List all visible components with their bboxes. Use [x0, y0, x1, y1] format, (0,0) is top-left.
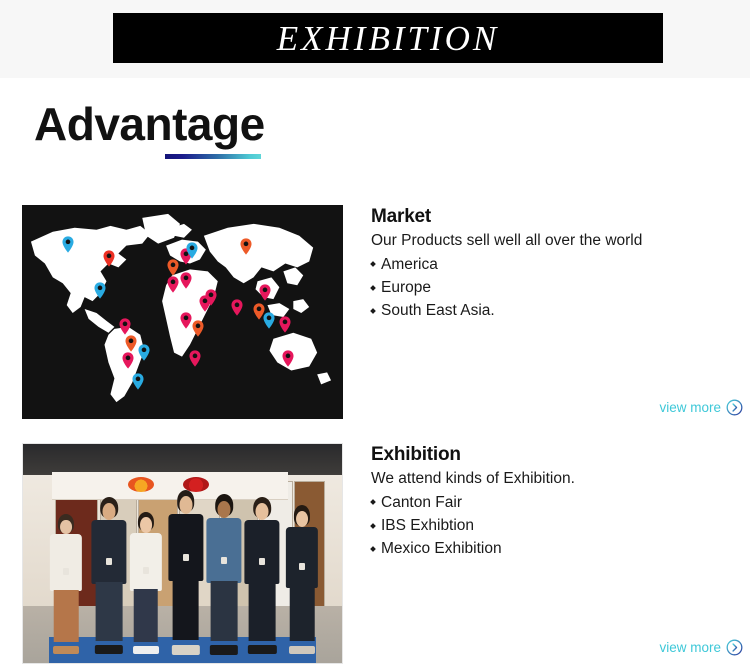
- person-shoes: [95, 645, 123, 654]
- market-lead: Our Products sell well all over the worl…: [371, 231, 743, 252]
- view-more-label: view more: [659, 401, 721, 415]
- list-item-label: South East Asia.: [381, 302, 495, 319]
- map-pin-icon: [119, 318, 132, 335]
- list-item: Canton Fair: [371, 491, 743, 514]
- map-pin-icon: [125, 335, 138, 352]
- list-item: America: [371, 253, 743, 276]
- booth-person: [243, 497, 281, 650]
- person-legs: [290, 586, 315, 641]
- chevron-right-circle-icon: [726, 639, 743, 656]
- person-badge: [221, 557, 227, 564]
- list-item-label: IBS Exhibtion: [381, 517, 474, 534]
- person-badge: [106, 558, 112, 565]
- booth-person: [167, 490, 205, 650]
- map-pin-icon: [179, 272, 192, 289]
- booth-person: [285, 505, 320, 650]
- list-item-label: America: [381, 256, 438, 273]
- map-pin-icon: [281, 350, 294, 367]
- person-head: [179, 496, 192, 514]
- map-pin-icon: [278, 316, 291, 333]
- person-shoes: [248, 645, 276, 654]
- person-head: [296, 511, 308, 527]
- list-item: South East Asia.: [371, 299, 743, 322]
- person-torso: [286, 527, 318, 588]
- person-torso: [245, 520, 280, 584]
- list-item: Mexico Exhibition: [371, 537, 743, 560]
- map-pin-icon: [93, 282, 106, 299]
- map-pin-icon: [192, 320, 205, 337]
- diamond-bullet-icon: [370, 523, 376, 529]
- map-pin-icon: [205, 289, 218, 306]
- world-map-image: [22, 205, 343, 419]
- list-item: Europe: [371, 276, 743, 299]
- diamond-bullet-icon: [370, 308, 376, 314]
- person-torso: [92, 520, 127, 584]
- view-more-link-market[interactable]: view more: [659, 399, 743, 416]
- person-torso: [206, 518, 241, 583]
- market-title: Market: [371, 205, 743, 229]
- view-more-label: view more: [659, 641, 721, 655]
- map-pin-icon: [61, 236, 74, 253]
- map-pin-icon: [166, 276, 179, 293]
- person-shoes: [210, 645, 238, 654]
- map-pin-icon: [122, 352, 135, 369]
- map-pin-icon: [166, 259, 179, 276]
- map-pin-icon: [186, 242, 199, 259]
- list-item-label: Mexico Exhibition: [381, 540, 502, 557]
- person-shoes: [172, 645, 200, 655]
- person-legs: [211, 581, 238, 640]
- person-legs: [249, 582, 276, 640]
- view-more-link-exhibition[interactable]: view more: [659, 639, 743, 656]
- map-pin-icon: [179, 312, 192, 329]
- person-legs: [54, 590, 79, 642]
- person-badge: [259, 558, 265, 565]
- map-pin-icon: [189, 350, 202, 367]
- page-title: Advantage: [34, 100, 374, 148]
- banner-title: EXHIBITION: [277, 21, 499, 56]
- person-torso: [168, 514, 203, 581]
- person-badge: [63, 568, 69, 575]
- booth-person: [128, 512, 163, 650]
- person-badge: [183, 554, 189, 561]
- booth-person: [49, 514, 84, 650]
- exhibition-text-column: Exhibition We attend kinds of Exhibition…: [371, 443, 743, 560]
- person-legs: [96, 582, 123, 640]
- booth-person: [205, 494, 243, 649]
- map-pin-icon: [262, 312, 275, 329]
- booth-logo-left-icon: [128, 477, 154, 492]
- market-text-column: Market Our Products sell well all over t…: [371, 205, 743, 322]
- chevron-right-circle-icon: [726, 399, 743, 416]
- exhibition-banner: EXHIBITION: [113, 13, 663, 63]
- person-badge: [299, 563, 305, 570]
- map-pin-icon: [131, 373, 144, 390]
- diamond-bullet-icon: [370, 546, 376, 552]
- list-item-label: Canton Fair: [381, 494, 462, 511]
- map-pin-icon: [240, 238, 253, 255]
- booth-person: [90, 497, 128, 650]
- person-head: [256, 503, 269, 520]
- person-legs: [172, 580, 199, 641]
- person-legs: [134, 589, 159, 641]
- map-pin-icon: [230, 299, 243, 316]
- list-item-label: Europe: [381, 279, 431, 296]
- diamond-bullet-icon: [370, 499, 376, 505]
- exhibition-bullet-list: Canton Fair IBS Exhibtion Mexico Exhibit…: [371, 491, 743, 561]
- person-head: [140, 517, 152, 532]
- title-underline-accent: [165, 154, 261, 159]
- diamond-bullet-icon: [370, 285, 376, 291]
- person-head: [60, 520, 72, 535]
- exhibition-photo-canvas: [23, 444, 342, 663]
- person-head: [103, 503, 116, 520]
- person-torso: [50, 534, 82, 591]
- person-torso: [130, 533, 162, 591]
- map-pin-icon: [103, 250, 116, 267]
- map-pin-icon: [138, 344, 151, 361]
- list-item: IBS Exhibtion: [371, 514, 743, 537]
- diamond-bullet-icon: [370, 261, 376, 267]
- market-bullet-list: America Europe South East Asia.: [371, 253, 743, 323]
- section-heading-group: Advantage: [34, 100, 374, 159]
- person-badge: [143, 567, 149, 574]
- map-pin-icon: [259, 284, 272, 301]
- person-shoes: [289, 646, 315, 655]
- exhibition-lead: We attend kinds of Exhibition.: [371, 469, 743, 490]
- advantage-block-exhibition: Exhibition We attend kinds of Exhibition…: [0, 443, 750, 664]
- person-shoes: [53, 646, 79, 654]
- exhibition-title: Exhibition: [371, 443, 743, 467]
- person-shoes: [133, 646, 159, 654]
- exhibition-photo-image: [22, 443, 343, 664]
- person-head: [217, 501, 230, 518]
- advantage-block-market: Market Our Products sell well all over t…: [0, 205, 750, 419]
- world-map-canvas: [23, 206, 342, 418]
